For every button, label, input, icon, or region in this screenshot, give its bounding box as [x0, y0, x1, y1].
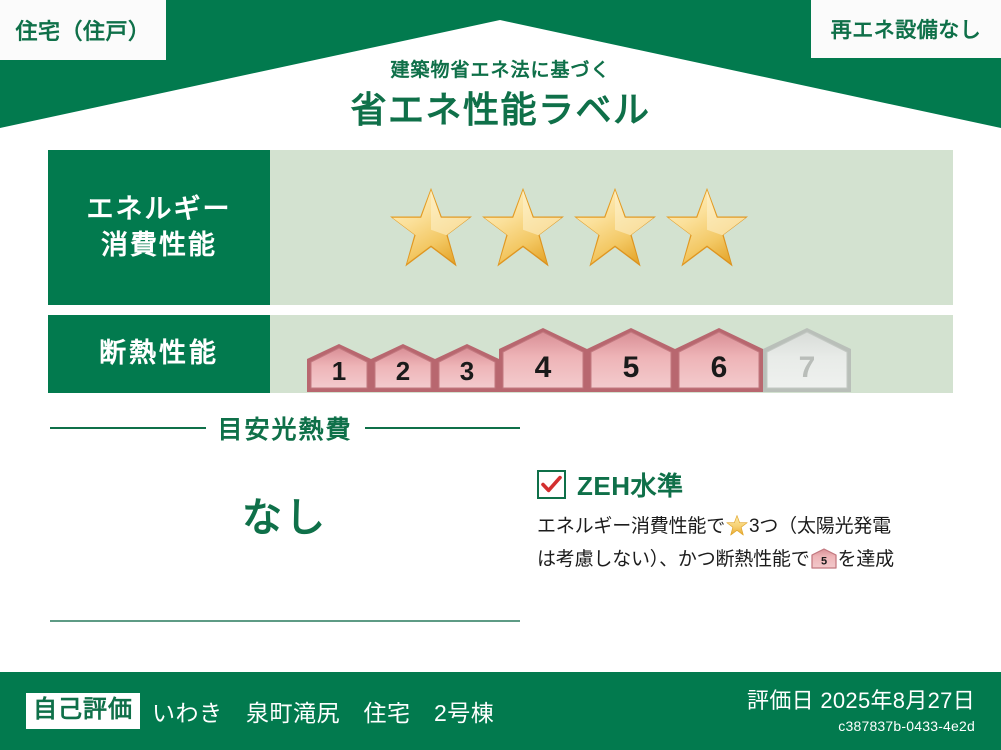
zeh-title: ZEH水準 — [577, 466, 684, 503]
insulation-grade-scale: 1234567 — [306, 315, 850, 393]
utility-cost-heading-text: 目安光熱費 — [218, 410, 353, 446]
title-main: 省エネ性能ラベル — [0, 87, 1001, 132]
title-subtitle: 建築物省エネ法に基づく — [0, 58, 1001, 85]
building-type-badge: 住宅（住戸） — [0, 0, 166, 60]
heading-rule-left — [50, 427, 206, 429]
zeh-section: ZEH水準 エネルギー消費性能で 3つ（太陽光発電 は考慮しない）、かつ断熱性能… — [537, 466, 955, 579]
zeh-description: エネルギー消費性能で 3つ（太陽光発電 は考慮しない）、かつ断熱性能で — [537, 512, 955, 579]
house-icon — [674, 327, 764, 393]
zeh-header: ZEH水準 — [537, 466, 955, 503]
house-icon — [434, 343, 500, 393]
insulation-grade-2: 2 — [370, 343, 436, 393]
evaluation-type-badge: 自己評価 — [26, 693, 140, 729]
insulation-performance-value: 1234567 — [270, 315, 953, 393]
insulation-grade-3: 3 — [434, 343, 500, 393]
insulation-grade-4: 4 — [498, 327, 588, 393]
evaluation-date: 評価日 2025年8月27日 — [747, 688, 975, 714]
building-name-text: いわき 泉町滝尻 住宅 2号棟 — [152, 694, 494, 728]
house-icon — [762, 327, 852, 393]
check-icon — [541, 475, 562, 494]
house-grade-icon-inline: 5 — [811, 548, 837, 578]
renewable-energy-badge: 再エネ設備なし — [811, 0, 1001, 58]
energy-performance-label: エネルギー 消費性能 — [48, 150, 270, 305]
energy-performance-value — [270, 150, 953, 305]
insulation-grade-1: 1 — [306, 343, 372, 393]
insulation-grade-5: 5 — [586, 327, 676, 393]
footer-bar: 自己評価 いわき 泉町滝尻 住宅 2号棟 評価日 2025年8月27日 c387… — [0, 672, 1001, 750]
page-title: 建築物省エネ法に基づく 省エネ性能ラベル — [0, 58, 1001, 132]
zeh-desc-part1: エネルギー消費性能で — [537, 516, 725, 537]
energy-performance-label-line1: エネルギー — [87, 192, 232, 227]
star-icon-inline — [726, 515, 748, 545]
insulation-grade-7: 7 — [762, 327, 852, 393]
utility-cost-value: なし — [50, 485, 520, 543]
building-type-badge-label: 住宅（住戸） — [15, 14, 150, 46]
footer-left-group: 自己評価 いわき 泉町滝尻 住宅 2号棟 — [26, 693, 494, 729]
house-icon — [498, 327, 588, 393]
utility-cost-heading: 目安光熱費 — [50, 410, 520, 446]
insulation-performance-label-text: 断熱性能 — [99, 336, 219, 371]
insulation-performance-row: 断熱性能 1234567 — [48, 315, 953, 393]
zeh-checkbox[interactable] — [537, 470, 566, 499]
energy-performance-label-line2: 消費性能 — [101, 228, 217, 263]
star-rating — [270, 187, 750, 269]
utility-cost-bottom-rule — [50, 620, 520, 622]
star-icon — [664, 187, 750, 269]
heading-rule-right — [365, 427, 521, 429]
insulation-grade-6: 6 — [674, 327, 764, 393]
energy-performance-row: エネルギー 消費性能 — [48, 150, 953, 305]
zeh-desc-part3: を達成 — [838, 549, 894, 570]
house-icon — [586, 327, 676, 393]
house-icon — [370, 343, 436, 393]
star-icon — [480, 187, 566, 269]
zeh-desc-star-count: 3つ（太陽光発電 — [749, 516, 891, 537]
star-icon — [388, 187, 474, 269]
house-icon — [306, 343, 372, 393]
renewable-energy-badge-label: 再エネ設備なし — [831, 14, 982, 44]
evaluation-id: c387837b-0433-4e2d — [747, 718, 975, 734]
footer-right-group: 評価日 2025年8月27日 c387837b-0433-4e2d — [747, 688, 975, 733]
zeh-desc-part2: は考慮しない）、かつ断熱性能で — [537, 549, 810, 570]
star-icon — [572, 187, 658, 269]
insulation-performance-label: 断熱性能 — [48, 315, 270, 393]
inline-grade-number: 5 — [821, 556, 827, 568]
energy-performance-label: 住宅（住戸） 再エネ設備なし 建築物省エネ法に基づく 省エネ性能ラベル エネルギ… — [0, 0, 1001, 750]
